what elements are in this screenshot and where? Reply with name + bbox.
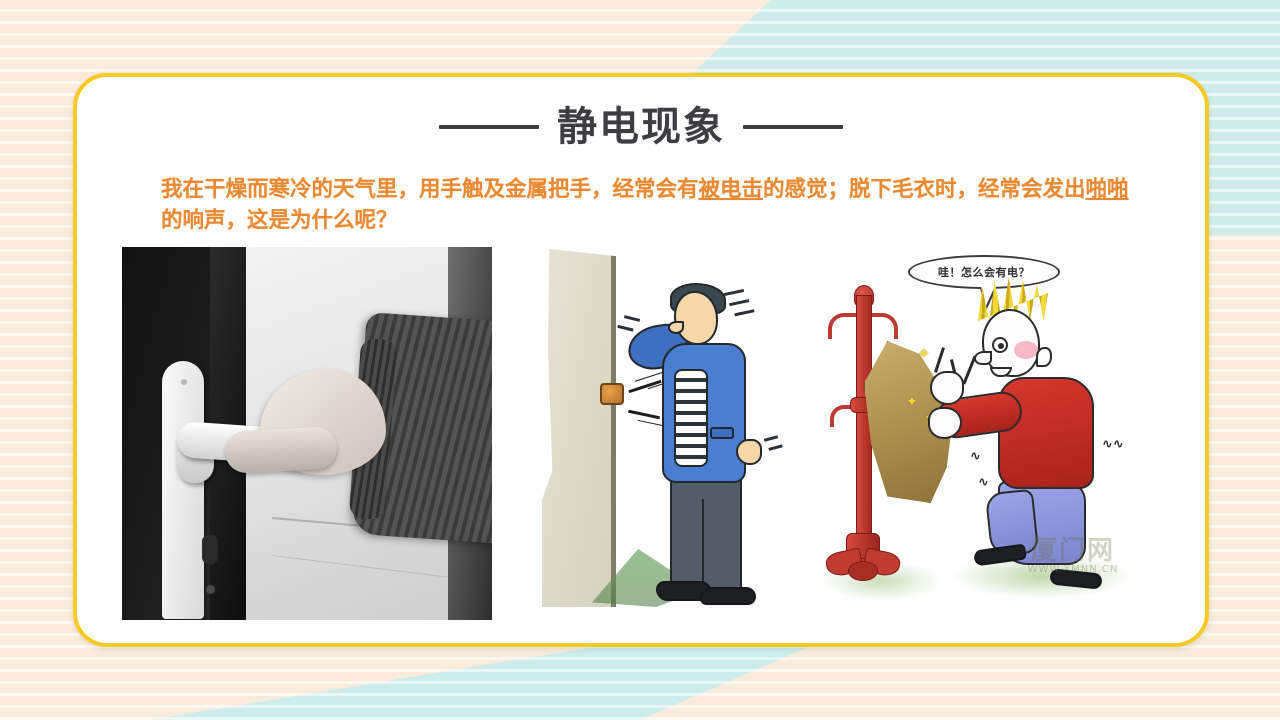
motion-lines-icon	[724, 289, 744, 296]
person-hand-upper	[930, 371, 964, 405]
coat-rack-pole	[856, 295, 872, 567]
watermark-url: WWW.XMNN.CN	[1028, 564, 1119, 575]
backplate-screw	[181, 379, 187, 385]
spark-star-icon: ✦	[918, 347, 930, 361]
person-eye	[992, 337, 1008, 353]
watermark-logo: 厦门网	[1031, 538, 1115, 564]
man-head	[674, 291, 718, 345]
page-title: 静电现象	[557, 107, 725, 147]
man-jacket-pocket	[710, 427, 734, 439]
electric-zap-icon	[628, 380, 661, 393]
electric-zap-icon-2	[628, 410, 660, 420]
question-part-2: 的感觉；脱下毛衣时，经常会发出	[763, 177, 1086, 202]
cartoon-door-knob	[600, 383, 624, 405]
title-rule-left-icon	[439, 125, 539, 129]
man-shocked-at-door-cartoon	[532, 249, 777, 619]
fingers	[224, 426, 338, 474]
shiver-lines-icon-3: ∿	[970, 451, 981, 462]
coat-rack-shock-cartoon: 哇！怎么会有电？ ✦ ✦ ✦	[802, 255, 1152, 615]
content-card: 静电现象 我在干燥而寒冷的天气里，用手触及金属把手，经常会有被电击的感觉；脱下毛…	[73, 73, 1209, 647]
title-rule-right-icon	[743, 125, 843, 129]
coat-rack-foot-center	[848, 561, 878, 581]
watermark: 厦门网 WWW.XMNN.CN	[998, 527, 1148, 575]
question-paragraph: 我在干燥而寒冷的天气里，用手触及金属把手，经常会有被电击的感觉；脱下毛衣时，经常…	[161, 174, 1133, 236]
motion-lines-icon-2	[624, 315, 640, 322]
person-ear	[1036, 347, 1052, 367]
man-legs	[670, 471, 742, 597]
door-handle-photo	[122, 247, 492, 620]
man-leg-split	[702, 499, 704, 591]
lightning-bolt-icon	[934, 347, 945, 373]
question-part-1: 我在干燥而寒冷的天气里，用手触及金属把手，经常会有	[161, 177, 699, 202]
man-shoe-right	[700, 587, 756, 605]
person-nose	[974, 351, 992, 365]
shiver-lines-icon: ∿∿	[1102, 439, 1124, 450]
figure-row: 哇！怎么会有电？ ✦ ✦ ✦	[77, 247, 1205, 647]
title-row: 静电现象	[77, 107, 1205, 147]
speech-bubble-text: 哇！怎么会有电？	[938, 264, 1030, 280]
man-striped-shirt	[674, 369, 708, 467]
question-part-3: 的响声，这是为什么呢？	[161, 208, 398, 233]
motion-lines-icon-3	[764, 435, 778, 442]
man-nose	[668, 321, 684, 334]
keyhole	[202, 535, 218, 565]
keyhole-screw	[206, 585, 215, 594]
cartoon-door	[542, 249, 616, 607]
shiver-lines-icon-2: ∿	[978, 477, 989, 488]
question-underline-2: 啪啪	[1086, 177, 1129, 202]
speech-bubble: 哇！怎么会有电？	[908, 255, 1060, 289]
coat-rack-hook-right	[868, 313, 898, 339]
person-cheek-blush	[1014, 341, 1038, 359]
spark-star-icon-2: ✦	[906, 395, 918, 409]
question-underline-1: 被电击	[699, 177, 764, 202]
man-hand	[736, 439, 762, 465]
handle-backplate	[162, 361, 204, 619]
